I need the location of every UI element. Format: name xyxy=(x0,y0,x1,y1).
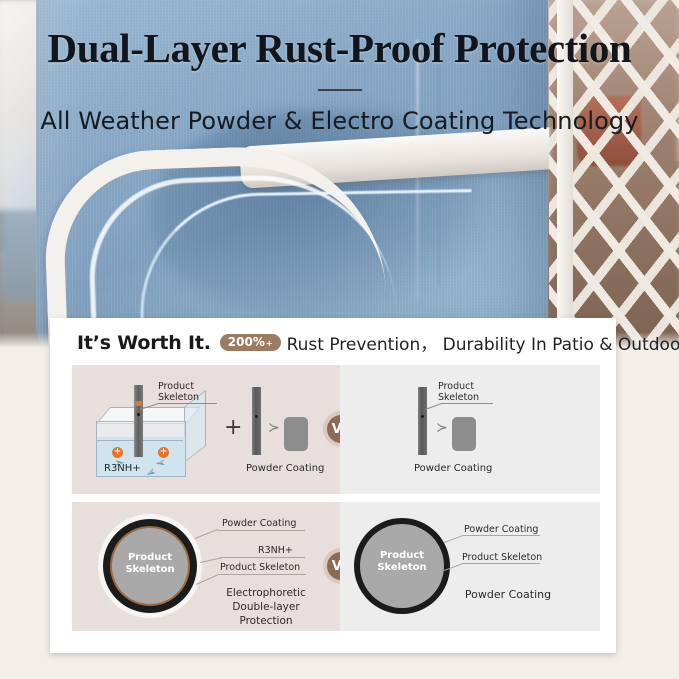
powder-only-leader-line xyxy=(425,403,442,410)
double-layer-core-line1: Product xyxy=(128,552,172,563)
solution-label: R3NH+ xyxy=(104,463,141,474)
headline-strong: It’s Worth It. xyxy=(77,332,211,354)
sl-caption: Powder Coating xyxy=(450,588,566,601)
powder-only-dot xyxy=(421,415,424,418)
badge-value: 200% xyxy=(228,336,265,348)
powder-only-coating-label: Powder Coating xyxy=(414,463,492,474)
electrophoresis-tank: + + ➣ ➣ ➣ R3NH+ xyxy=(96,407,204,475)
rod-anchor-dot xyxy=(137,413,140,416)
panel-single-layer-section: Product Skeleton Powder Coating Product … xyxy=(340,502,600,631)
vs-badge-top: VS xyxy=(327,415,340,443)
dl-callout-powder-coating: Powder Coating xyxy=(222,518,296,529)
skeleton-leader-line-2 xyxy=(159,403,217,404)
sl-leader-2b xyxy=(462,563,540,564)
double-layer-core-label: Product Skeleton xyxy=(112,552,188,575)
title-divider xyxy=(318,89,362,91)
single-layer-core-line2: Skeleton xyxy=(377,562,426,573)
single-layer-core-label: Product Skeleton xyxy=(360,550,444,573)
sl-leader-1b xyxy=(462,535,540,536)
rod-coating-mark xyxy=(135,401,142,406)
comparison-row-process: + + ➣ ➣ ➣ R3NH+ Product Skeleton xyxy=(72,365,600,494)
product-skeleton-label-line1: Product xyxy=(158,381,194,392)
percentage-badge: 200%+ xyxy=(220,334,281,351)
dl-caption-line1: Electrophoretic xyxy=(226,587,306,599)
dl-leader-1a xyxy=(195,529,218,539)
comparison-card: It’s Worth It. 200%+ Rust Prevention， Du… xyxy=(50,318,616,653)
powder-only-skeleton-label-line2: Skeleton xyxy=(438,392,479,403)
powder-target-dot xyxy=(255,415,258,418)
powder-target-skeleton xyxy=(252,387,261,455)
dl-caption-line2: Double-layer Protection xyxy=(232,601,299,627)
badge-superscript: + xyxy=(266,340,273,348)
dl-leader-1b xyxy=(217,530,305,531)
dl-leader-2b xyxy=(220,557,305,558)
immersed-product-skeleton xyxy=(134,385,143,457)
sl-callout-powder-coating: Powder Coating xyxy=(464,524,538,535)
sl-leader-1a xyxy=(444,535,463,543)
card-headline: It’s Worth It. 200%+ Rust Prevention， Du… xyxy=(50,318,616,355)
dl-callout-r3nh: R3NH+ xyxy=(258,545,293,556)
vs-badge-bottom: VS xyxy=(327,552,340,580)
powder-only-skeleton xyxy=(418,387,427,455)
double-layer-core-line2: Skeleton xyxy=(125,564,174,575)
powder-only-spray-gun xyxy=(452,417,476,451)
spray-icon: ≻ xyxy=(268,421,280,435)
infographic-page: Dual-Layer Rust-Proof Protection All Wea… xyxy=(0,0,679,679)
dl-caption: Electrophoretic Double-layer Protection xyxy=(208,586,324,629)
dl-leader-2a xyxy=(200,557,222,563)
flow-arrow-2: ➣ xyxy=(153,456,167,468)
page-subtitle: All Weather Powder & Electro Coating Tec… xyxy=(0,107,679,135)
powder-only-spray-icon: ≻ xyxy=(436,421,448,435)
product-skeleton-label-line2: Skeleton xyxy=(158,392,199,403)
panel-electrophoretic-process: + + ➣ ➣ ➣ R3NH+ Product Skeleton xyxy=(72,365,340,494)
panel-double-layer-section: Product Skeleton Powder Coating R3NH+ Pr… xyxy=(72,502,340,631)
dl-callout-product-skeleton: Product Skeleton xyxy=(220,562,300,573)
page-title: Dual-Layer Rust-Proof Protection xyxy=(0,28,679,69)
sl-callout-product-skeleton: Product Skeleton xyxy=(462,552,542,563)
title-block: Dual-Layer Rust-Proof Protection All Wea… xyxy=(0,0,679,135)
powder-coating-label: Powder Coating xyxy=(246,463,324,474)
powder-spray-gun xyxy=(284,417,308,451)
panel-powder-only-process: Product Skeleton ≻ Powder Coating xyxy=(340,365,600,494)
powder-only-skeleton-label-line1: Product xyxy=(438,381,474,392)
single-layer-core-line1: Product xyxy=(380,550,424,561)
plus-symbol: + xyxy=(224,417,242,439)
dl-leader-3b xyxy=(218,574,306,575)
powder-only-leader-line-2 xyxy=(441,403,493,404)
headline-rest: Rust Prevention， Durability In Patio & O… xyxy=(287,330,679,355)
comparison-grid: + + ➣ ➣ ➣ R3NH+ Product Skeleton xyxy=(72,365,600,635)
comparison-row-cross-section: Product Skeleton Powder Coating R3NH+ Pr… xyxy=(72,502,600,631)
